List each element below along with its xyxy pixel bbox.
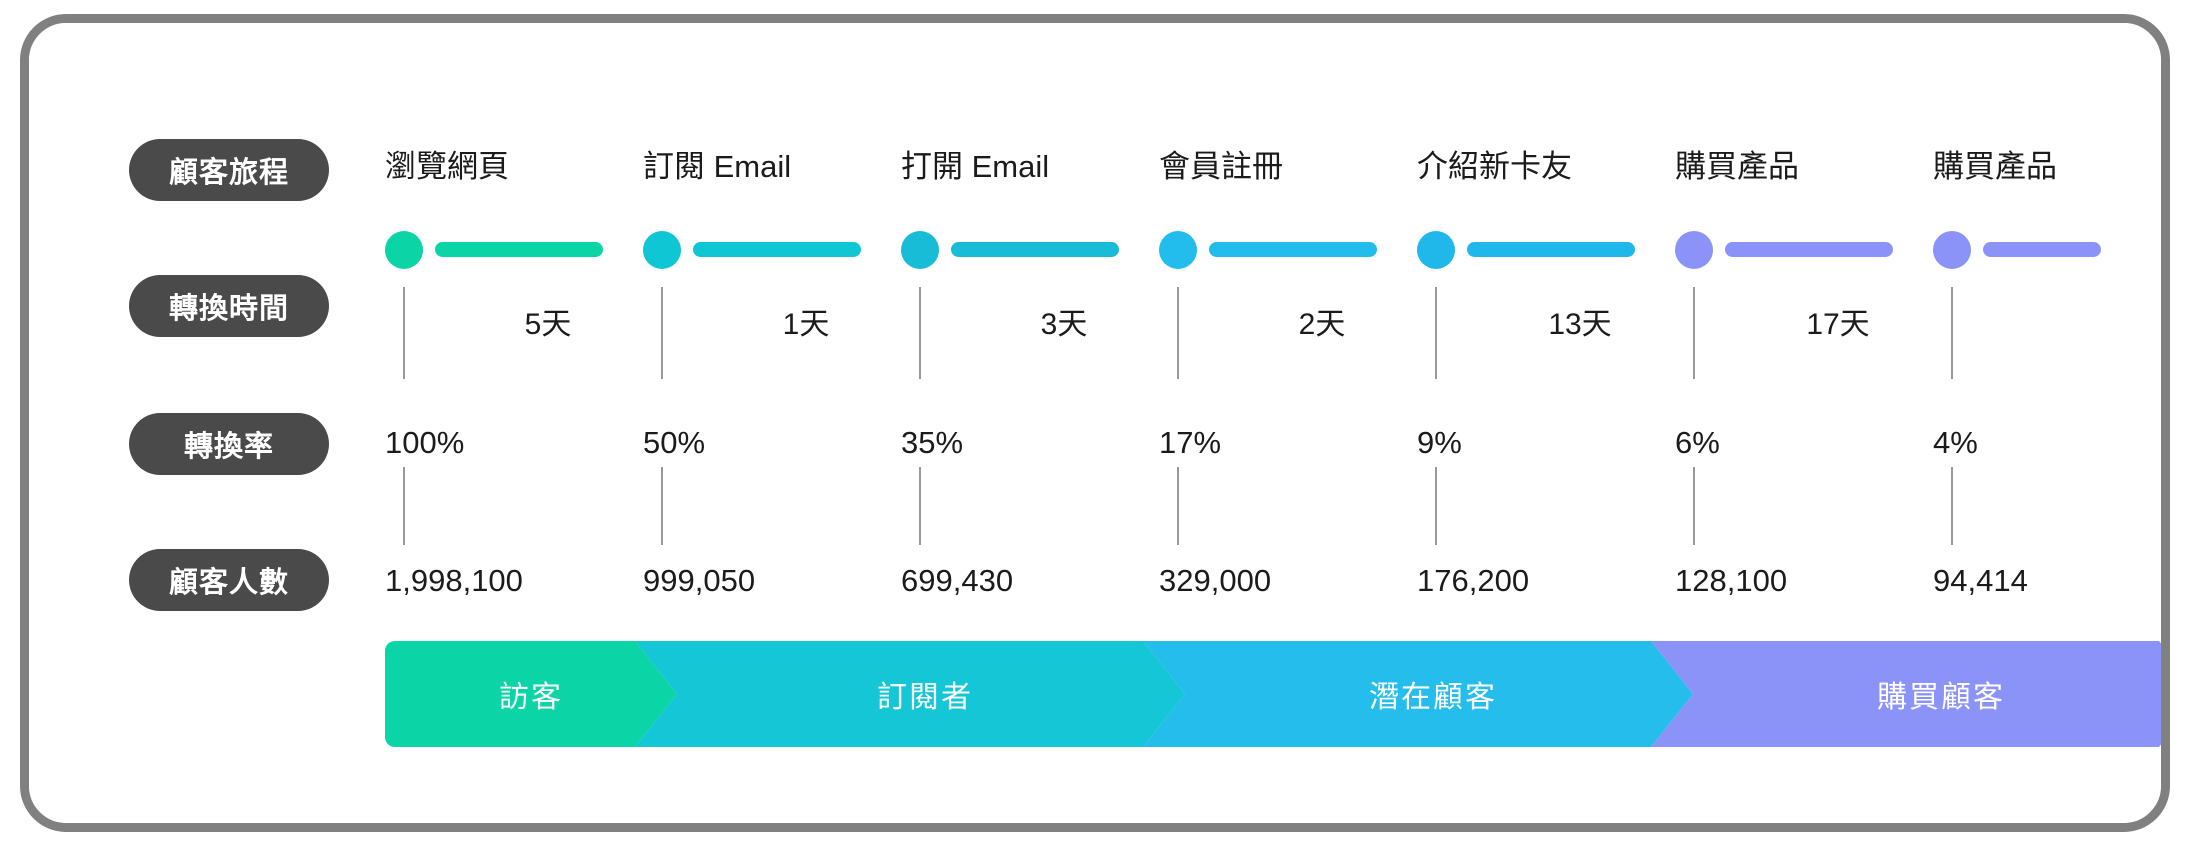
customer-count-value: 999,050	[643, 563, 755, 599]
conversion-time-value: 13天	[1451, 299, 1709, 343]
funnel-stage-4[interactable]: 購買顧客	[1651, 641, 2161, 747]
step-label: 介紹新卡友	[1417, 141, 1572, 186]
funnel-stage-3[interactable]: 潛在顧客	[1143, 641, 1693, 747]
tick-line-upper	[403, 287, 405, 379]
funnel-stage-bar: 訪客訂閱者潛在顧客購買顧客	[385, 641, 2145, 747]
customer-count-value: 94,414	[1933, 563, 2028, 599]
funnel-stage-1[interactable]: 訪客	[385, 641, 677, 747]
step-connector-bar	[951, 242, 1119, 257]
funnel-stage-label: 訪客	[499, 672, 563, 716]
tick-line-lower	[1693, 467, 1695, 545]
conversion-time-value: 1天	[677, 299, 935, 343]
step-node-dot[interactable]	[643, 231, 681, 269]
conversion-rate-value: 17%	[1159, 425, 1221, 461]
step-label: 會員註冊	[1159, 141, 1283, 186]
conversion-rate-value: 35%	[901, 425, 963, 461]
customer-count-value: 1,998,100	[385, 563, 523, 599]
row-label-customer-journey: 顧客旅程	[129, 139, 329, 201]
tick-line-lower	[661, 467, 663, 545]
step-node-dot[interactable]	[1675, 231, 1713, 269]
step-label: 購買產品	[1675, 141, 1799, 186]
step-connector-bar	[1209, 242, 1377, 257]
customer-count-value: 699,430	[901, 563, 1013, 599]
step-label: 購買產品	[1933, 141, 2057, 186]
step-node-dot[interactable]	[1417, 231, 1455, 269]
step-node-dot[interactable]	[1933, 231, 1971, 269]
step-connector-bar	[1467, 242, 1635, 257]
tick-line-lower	[403, 467, 405, 545]
customer-count-value: 176,200	[1417, 563, 1529, 599]
step-connector-bar	[1725, 242, 1893, 257]
conversion-rate-value: 50%	[643, 425, 705, 461]
funnel-stage-label: 潛在顧客	[1369, 672, 1497, 716]
row-label-customer-count: 顧客人數	[129, 549, 329, 611]
tick-line-lower	[1177, 467, 1179, 545]
conversion-time-value: 2天	[1193, 299, 1451, 343]
step-node-dot[interactable]	[901, 231, 939, 269]
conversion-rate-value: 9%	[1417, 425, 1462, 461]
step-connector-bar	[1983, 242, 2101, 257]
funnel-stage-2[interactable]: 訂閱者	[635, 641, 1185, 747]
conversion-rate-value: 100%	[385, 425, 464, 461]
row-label-conversion-time: 轉換時間	[129, 275, 329, 337]
step-node-dot[interactable]	[1159, 231, 1197, 269]
funnel-stage-label: 購買顧客	[1877, 672, 2005, 716]
tick-line-lower	[1435, 467, 1437, 545]
conversion-time-value: 17天	[1709, 299, 1967, 343]
step-connector-bar	[693, 242, 861, 257]
step-node-dot[interactable]	[385, 231, 423, 269]
step-label: 打開 Email	[901, 141, 1049, 186]
tick-line-lower	[1951, 467, 1953, 545]
step-label: 訂閱 Email	[643, 141, 791, 186]
diagram-card: 顧客旅程 轉換時間 轉換率 顧客人數 瀏覽網頁100%1,998,100訂閱 E…	[29, 23, 2161, 823]
conversion-time-value: 5天	[419, 299, 677, 343]
step-connector-bar	[435, 242, 603, 257]
conversion-time-value: 3天	[935, 299, 1193, 343]
customer-count-value: 128,100	[1675, 563, 1787, 599]
outer-frame: 顧客旅程 轉換時間 轉換率 顧客人數 瀏覽網頁100%1,998,100訂閱 E…	[20, 14, 2170, 832]
funnel-stage-label: 訂閱者	[877, 672, 973, 716]
tick-line-lower	[919, 467, 921, 545]
conversion-rate-value: 6%	[1675, 425, 1720, 461]
customer-count-value: 329,000	[1159, 563, 1271, 599]
row-label-conversion-rate: 轉換率	[129, 413, 329, 475]
conversion-rate-value: 4%	[1933, 425, 1978, 461]
step-label: 瀏覽網頁	[385, 141, 509, 186]
